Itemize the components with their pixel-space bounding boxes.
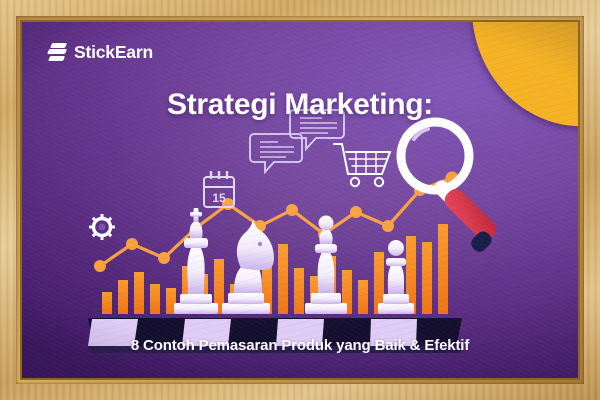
trend-line-markers: [94, 172, 459, 273]
gear-icon: [89, 214, 115, 240]
chess-king: [174, 208, 218, 314]
poster-canvas: 15: [22, 22, 578, 378]
brand-logo-text: StickEarn: [74, 42, 153, 63]
poster-root: 15: [0, 0, 600, 400]
page-subtitle: 8 Contoh Pemasaran Produk yang Baik & Ef…: [22, 337, 578, 354]
chat-bubble-icon: [250, 134, 302, 172]
brand-logo[interactable]: StickEarn: [48, 42, 153, 63]
calendar-day-label: 15: [212, 191, 226, 205]
page-title: Strategi Marketing:: [22, 88, 578, 122]
stickearn-logo-icon: [48, 42, 67, 63]
magnifier-icon: [401, 122, 500, 255]
trend-line-series: [94, 172, 459, 273]
illustration: 15: [22, 22, 578, 378]
chess-queen: [305, 216, 347, 315]
shopping-cart-icon: [334, 144, 390, 186]
